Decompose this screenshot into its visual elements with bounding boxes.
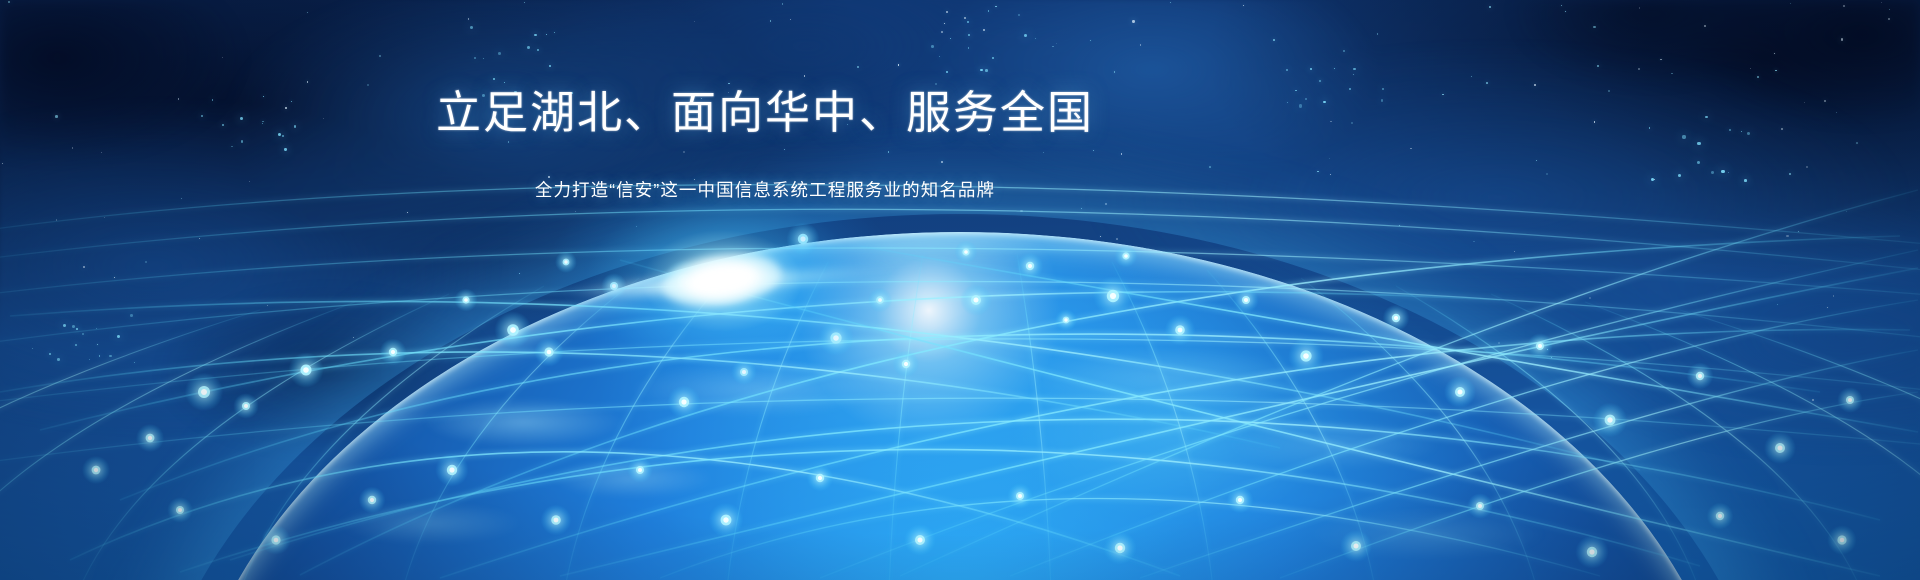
hero-banner: 立足湖北、面向华中、服务全国 全力打造“信安”这一中国信息系统工程服务业的知名品… [0,0,1920,580]
